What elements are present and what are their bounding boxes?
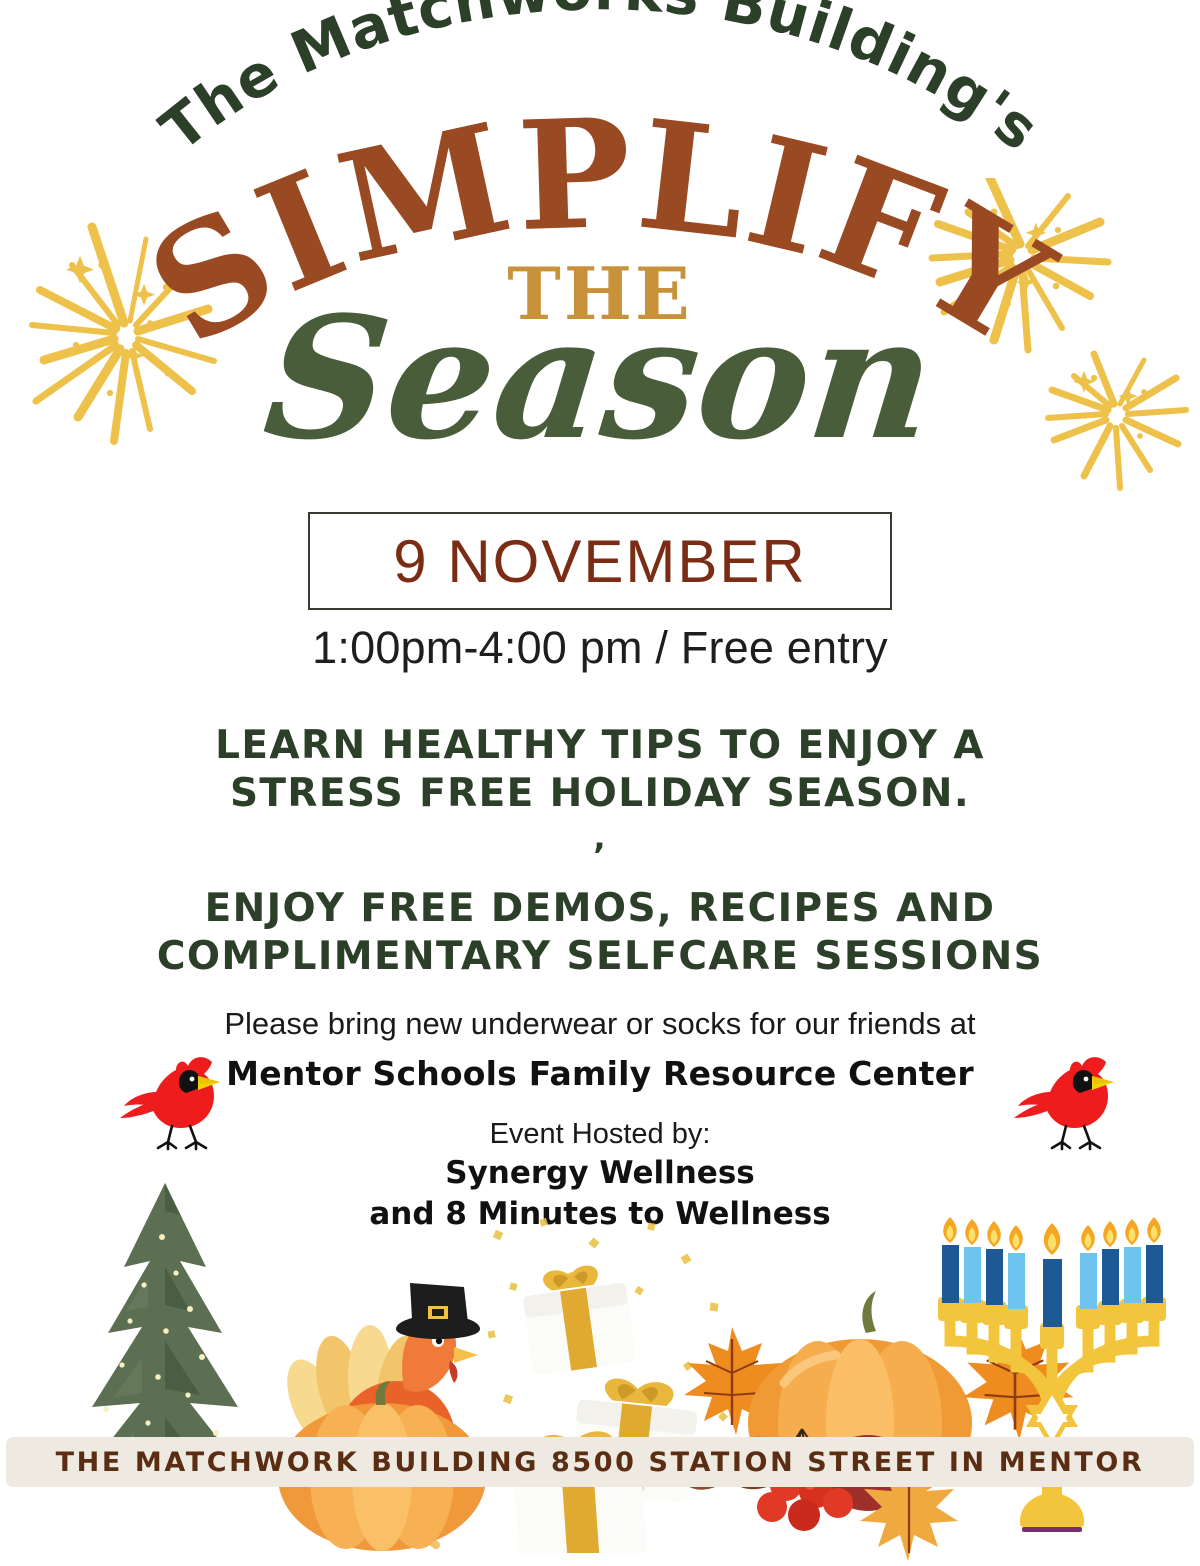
christmas-tree-icon [30, 1181, 300, 1556]
cardinal-bird-icon-right [1012, 1048, 1132, 1157]
body-line-3: ENJOY FREE DEMOS, RECIPES AND [0, 885, 1200, 933]
body-separator-mark: ’ [0, 836, 1200, 877]
body-paragraph-2: ENJOY FREE DEMOS, RECIPES AND COMPLIMENT… [0, 885, 1200, 980]
event-date: 9 NOVEMBER [393, 527, 806, 596]
body-line-1: LEARN HEALTHY TIPS TO ENJOY A [0, 722, 1200, 770]
body-line-4: COMPLIMENTARY SELFCARE SESSIONS [0, 933, 1200, 981]
poster-title-season: Season [0, 290, 1200, 466]
berry-cluster-icon [672, 1411, 962, 1566]
flyer-canvas: The Matchworks Building's SIMPLIFY THE S… [0, 0, 1200, 1553]
address-banner: THE MATCHWORK BUILDING 8500 STATION STRE… [6, 1437, 1194, 1487]
menorah-icon [928, 1205, 1176, 1558]
donation-request: Please bring new underwear or socks for … [0, 1006, 1200, 1042]
event-time-entry: 1:00pm-4:00 pm / Free entry [0, 622, 1200, 674]
address-text: THE MATCHWORK BUILDING 8500 STATION STRE… [56, 1447, 1145, 1478]
event-date-box: 9 NOVEMBER [308, 512, 892, 610]
body-paragraph-1: LEARN HEALTHY TIPS TO ENJOY A STRESS FRE… [0, 722, 1200, 817]
cardinal-bird-icon-left [118, 1048, 238, 1157]
holiday-scene [0, 1193, 1200, 1553]
body-line-2: STRESS FREE HOLIDAY SEASON. [0, 770, 1200, 818]
